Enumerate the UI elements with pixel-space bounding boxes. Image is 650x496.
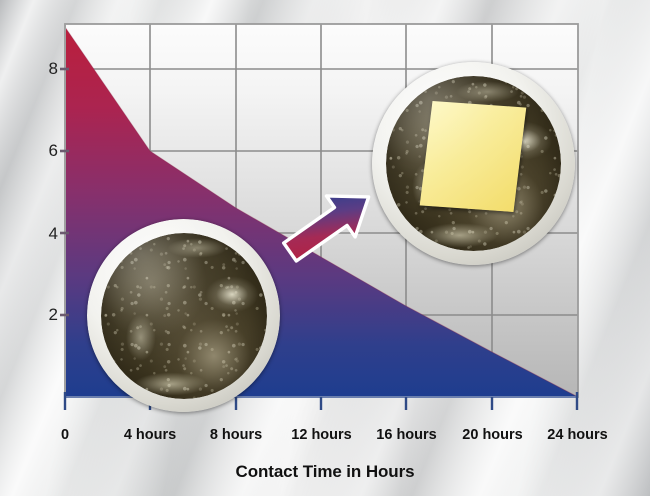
x-tick-label: 8 hours [196,428,276,443]
petri-dish-untreated [87,219,280,412]
plot-area [0,0,650,496]
x-tick-label: 16 hours [364,428,449,443]
x-tick-label: 12 hours [279,428,364,443]
dish-agar [386,76,561,251]
petri-dish-treated [372,62,575,265]
agar-highlight [101,233,267,399]
x-axis-title: Contact Time in Hours [0,462,650,482]
chart-figure: Bacterial Population (10 folds) 8 6 4 2 [0,0,650,496]
x-tick-label: 4 hours [110,428,190,443]
x-tick-label: 24 hours [535,428,620,443]
dish-agar [101,233,267,399]
sample-swatch [420,101,527,212]
x-tick-label: 20 hours [450,428,535,443]
x-tick-label: 0 [45,428,85,443]
